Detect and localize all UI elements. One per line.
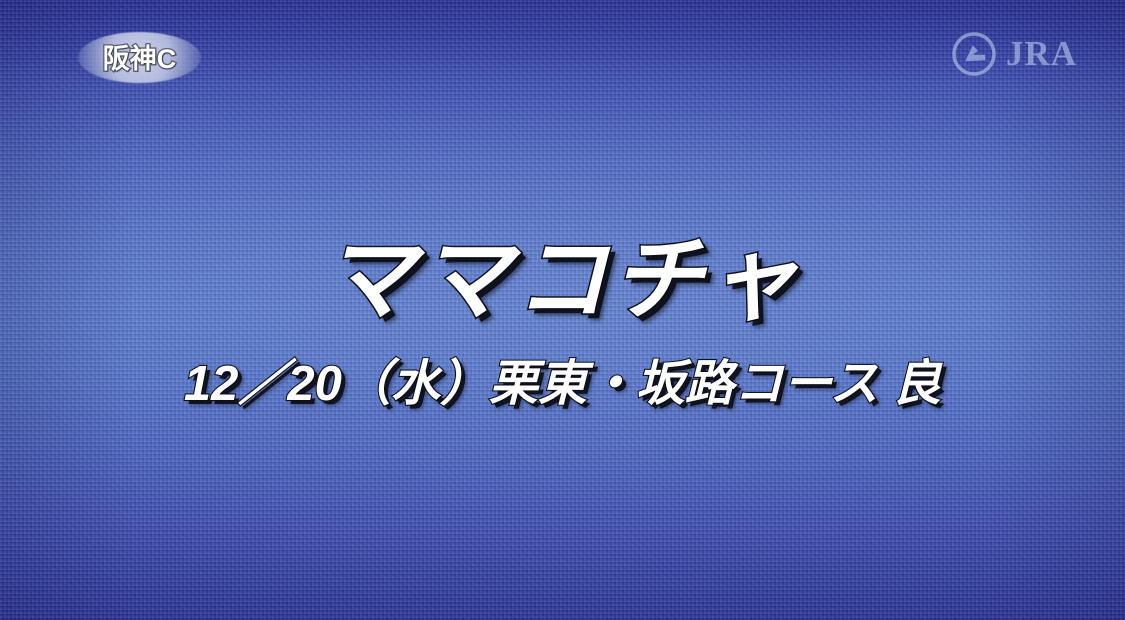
horse-name-title: ママコチャ	[323, 234, 802, 326]
broadcast-overlay-screen: 阪神C JRA ママコチャ 12／20（水）栗東・坂路コース 良	[0, 0, 1125, 620]
course-badge-label: 阪神C	[103, 37, 177, 76]
training-session-subtitle: 12／20（水）栗東・坂路コース 良	[184, 360, 941, 409]
title-block: ママコチャ 12／20（水）栗東・坂路コース 良	[0, 0, 1125, 620]
